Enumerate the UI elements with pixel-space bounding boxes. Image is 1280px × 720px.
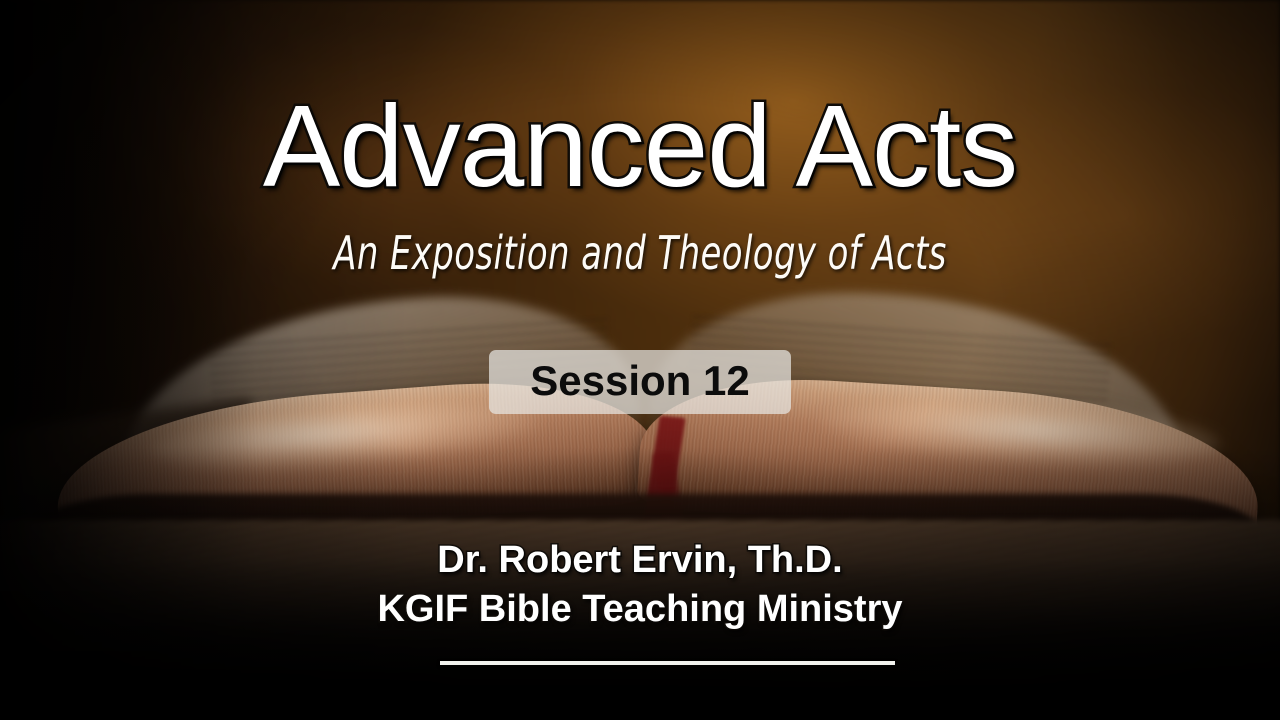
session-label: Session 12	[530, 357, 749, 404]
slide-content: Advanced Acts An Exposition and Theology…	[0, 0, 1280, 720]
presenter-block: Dr. Robert Ervin, Th.D. KGIF Bible Teach…	[0, 536, 1280, 633]
slide-title: Advanced Acts	[0, 88, 1280, 204]
presenter-name: Dr. Robert Ervin, Th.D.	[0, 536, 1280, 585]
session-badge: Session 12	[489, 350, 791, 414]
presentation-slide: Advanced Acts An Exposition and Theology…	[0, 0, 1280, 720]
presenter-organization: KGIF Bible Teaching Ministry	[0, 585, 1280, 634]
session-badge-container: Session 12	[0, 350, 1280, 414]
divider-rule	[440, 661, 895, 665]
slide-subtitle: An Exposition and Theology of Acts	[115, 228, 1165, 279]
